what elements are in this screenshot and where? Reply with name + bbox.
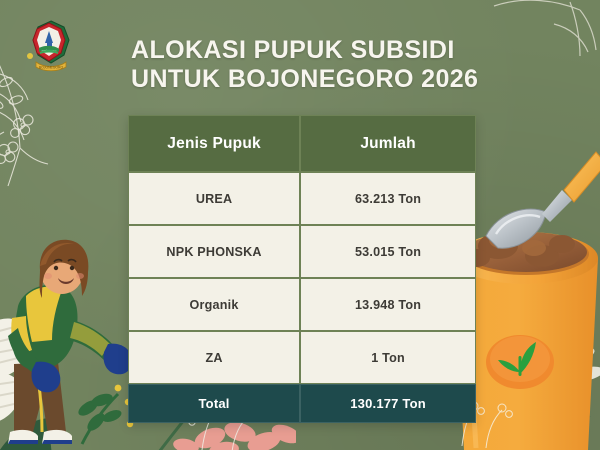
cell-jenis-za: ZA [128, 331, 300, 384]
table-row: UREA 63.213 Ton [128, 172, 476, 225]
column-header-jenis-pupuk: Jenis Pupuk [128, 115, 300, 172]
table-row: ZA 1 Ton [128, 331, 476, 384]
title-line-1: ALOKASI PUPUK SUBSIDI [131, 36, 455, 64]
farmer-spreading-fertilizer-illustration [0, 236, 146, 450]
cell-jumlah-urea: 63.213 Ton [300, 172, 476, 225]
poster-canvas: BOJONEGORO ALOKASI PUPUK SUBSIDI UNTUK B… [0, 0, 600, 450]
table-total-row: Total 130.177 Ton [128, 384, 476, 423]
bojonegoro-regency-emblem: BOJONEGORO [28, 18, 74, 76]
cell-jenis-organik: Organik [128, 278, 300, 331]
title-line-2: UNTUK BOJONEGORO 2026 [131, 65, 531, 94]
svg-text:BOJONEGORO: BOJONEGORO [39, 66, 64, 70]
table-row: NPK PHONSKA 53.015 Ton [128, 225, 476, 278]
poster-title: ALOKASI PUPUK SUBSIDI UNTUK BOJONEGORO 2… [131, 36, 531, 93]
table-header-row: Jenis Pupuk Jumlah [128, 115, 476, 172]
table-row: Organik 13.948 Ton [128, 278, 476, 331]
floral-line-art-top-left [0, 52, 114, 222]
cell-total-value: 130.177 Ton [300, 384, 476, 423]
column-header-jumlah: Jumlah [300, 115, 476, 172]
cell-jumlah-npk-phonska: 53.015 Ton [300, 225, 476, 278]
cell-jenis-npk-phonska: NPK PHONSKA [128, 225, 300, 278]
cell-jenis-urea: UREA [128, 172, 300, 225]
cell-jumlah-za: 1 Ton [300, 331, 476, 384]
fertilizer-allocation-table: Jenis Pupuk Jumlah UREA 63.213 Ton NPK P… [128, 115, 476, 423]
cell-total-label: Total [128, 384, 300, 423]
cell-jumlah-organik: 13.948 Ton [300, 278, 476, 331]
